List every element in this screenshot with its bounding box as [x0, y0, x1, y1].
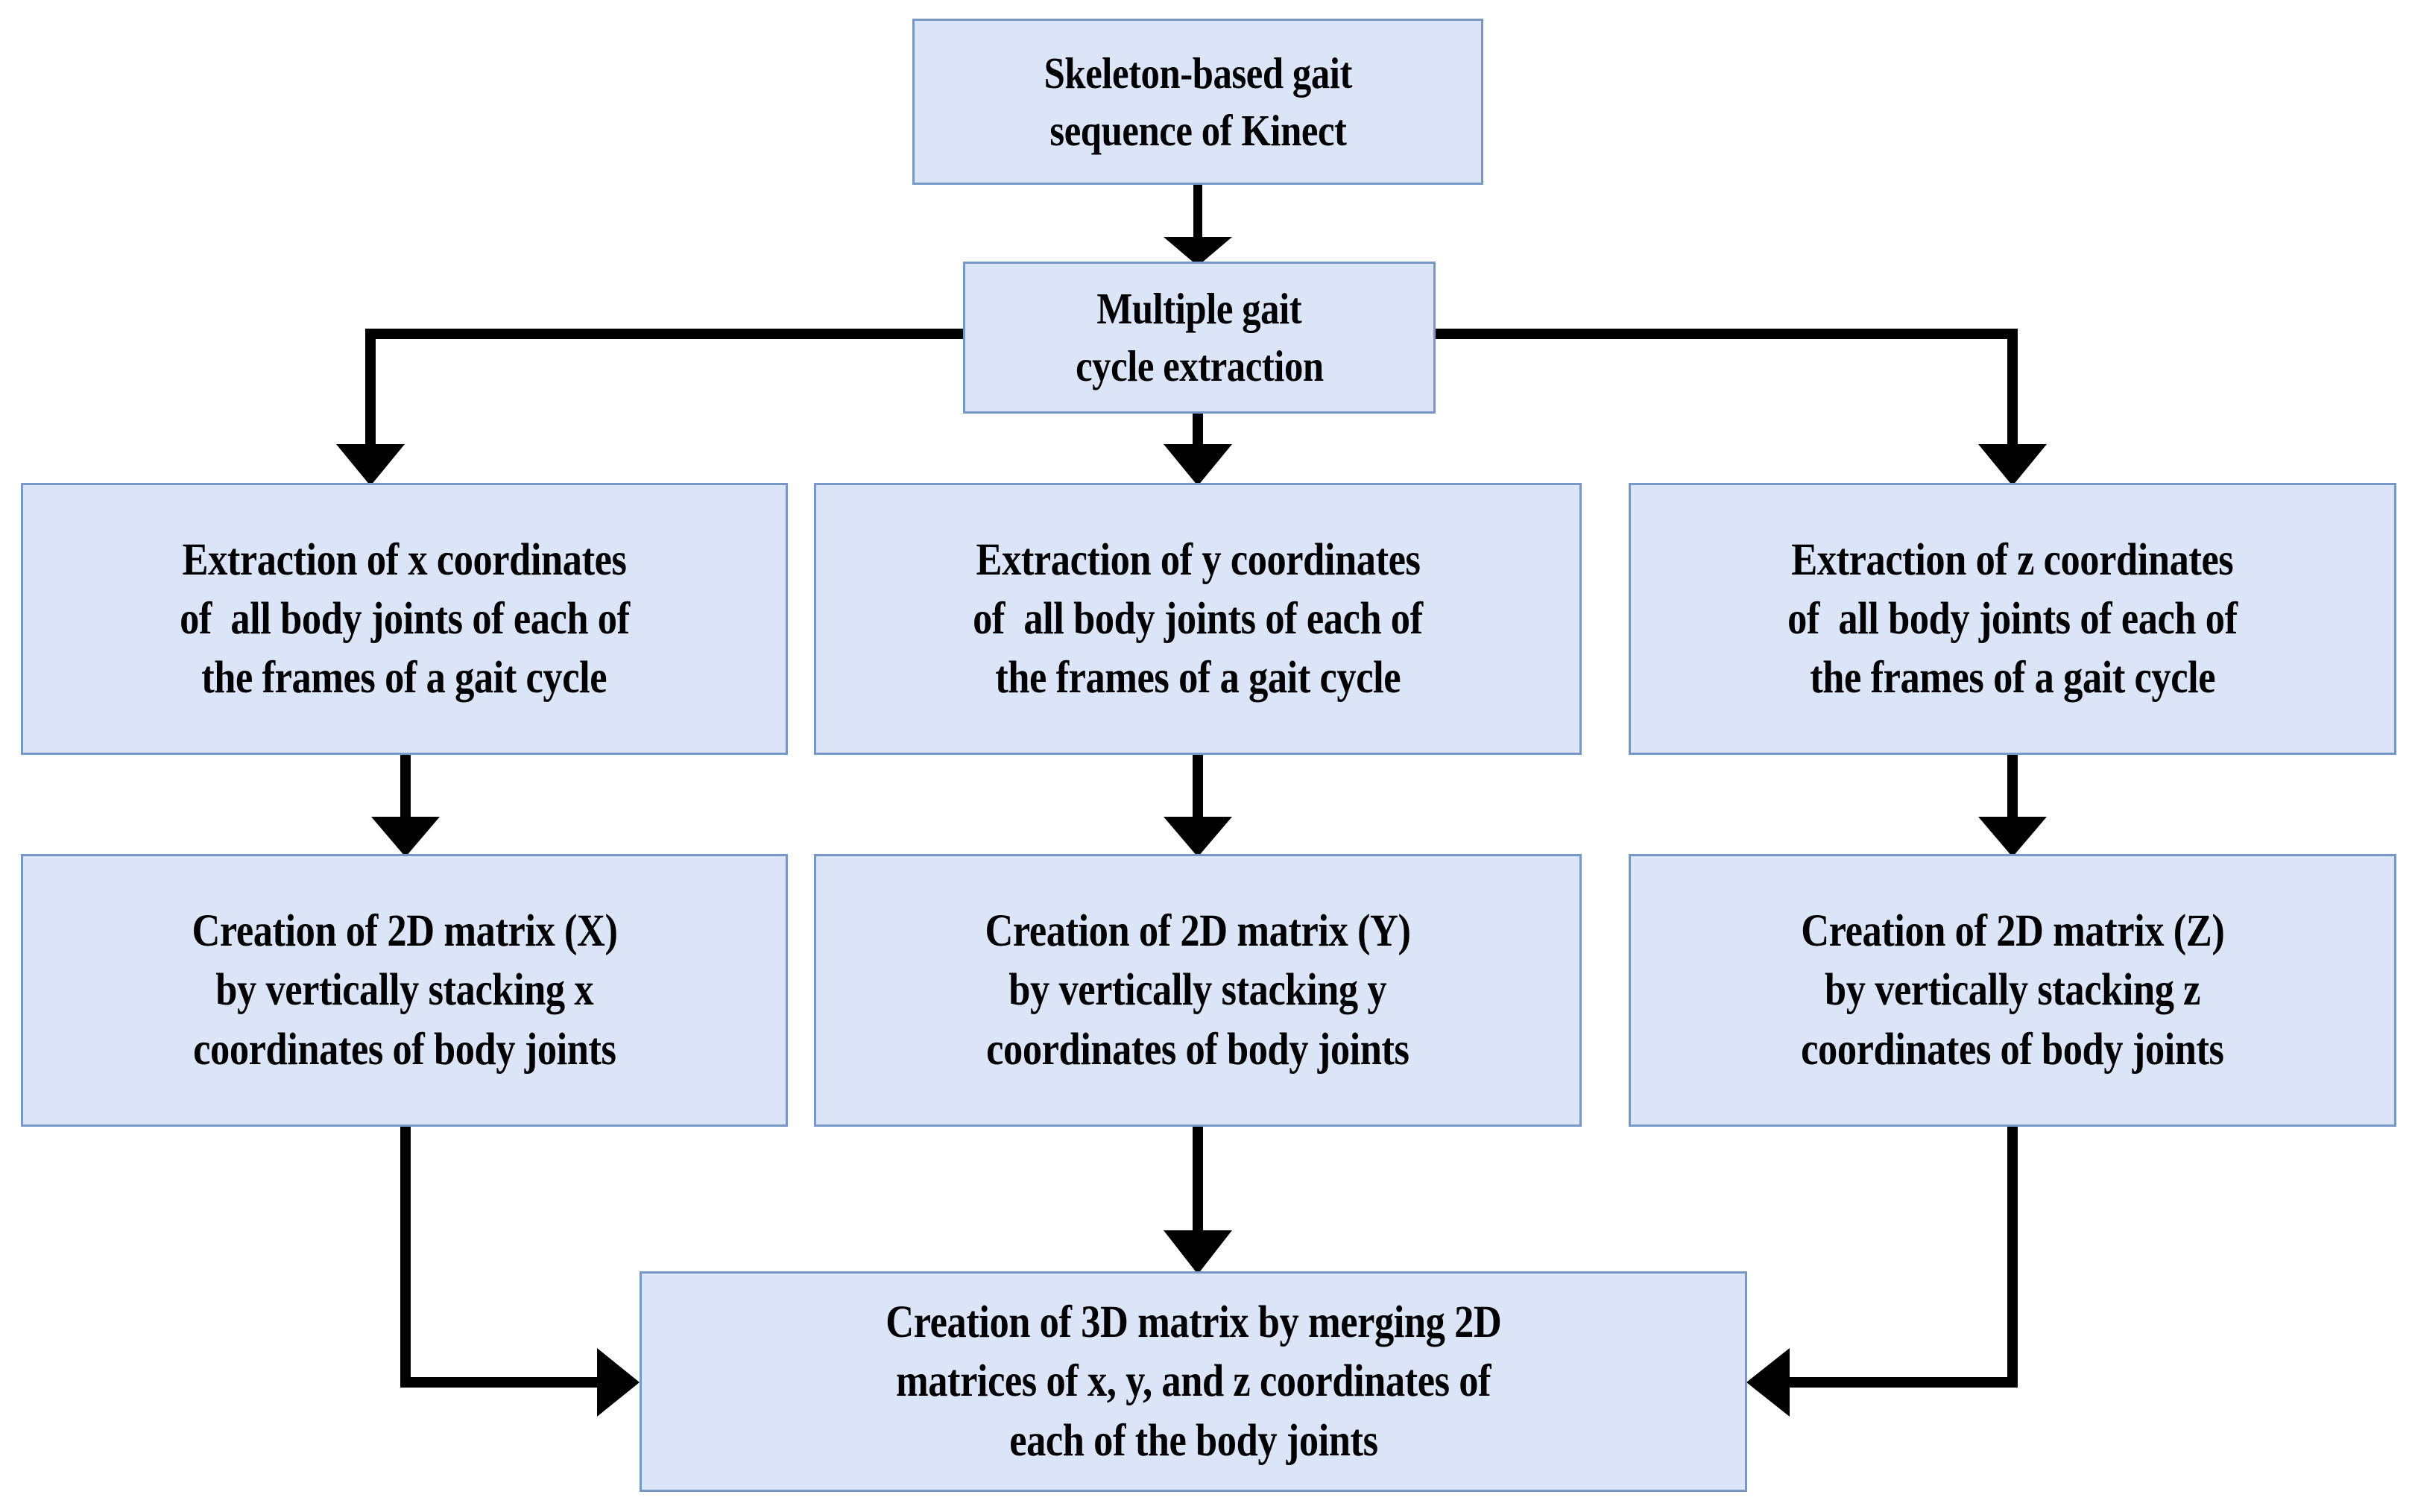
- edge-cycles-branch-right: [1436, 334, 2047, 486]
- edge-matrix-z-to-merge: [1746, 1127, 2012, 1417]
- node-2d-matrix-z[interactable]: Creation of 2D matrix (Z) by vertically …: [1629, 854, 2396, 1127]
- node-line: the frames of a gait cycle: [202, 648, 607, 707]
- edge-cycles-to-extract-y: [1164, 414, 1232, 486]
- node-multiple-gait-cycle-extraction[interactable]: Multiple gait cycle extraction: [963, 262, 1436, 414]
- node-line: of all body joints of each of: [180, 589, 630, 648]
- edge-matrix-y-to-merge: [1164, 1127, 1232, 1274]
- node-line: Skeleton-based gait: [1044, 45, 1351, 102]
- node-line: by vertically stacking x: [215, 961, 593, 1019]
- node-line: Extraction of y coordinates: [976, 531, 1420, 589]
- node-2d-matrix-x[interactable]: Creation of 2D matrix (X) by vertically …: [21, 854, 788, 1127]
- node-line: Multiple gait: [1097, 280, 1302, 338]
- node-line: Creation of 2D matrix (X): [192, 902, 617, 961]
- edge-extract-x-to-matrix-x: [371, 755, 440, 857]
- flowchart-canvas: Skeleton-based gait sequence of Kinect M…: [0, 0, 2415, 1512]
- node-line: Creation of 2D matrix (Z): [1801, 902, 2224, 961]
- node-line: each of the body joints: [1009, 1411, 1377, 1470]
- node-line: the frames of a gait cycle: [995, 648, 1401, 707]
- node-line: coordinates of body joints: [986, 1020, 1409, 1079]
- edge-extract-y-to-matrix-y: [1164, 755, 1232, 857]
- edge-extract-z-to-matrix-z: [1978, 755, 2047, 857]
- node-line: coordinates of body joints: [1801, 1020, 2223, 1079]
- node-line: by vertically stacking z: [1825, 961, 2200, 1019]
- node-line: by vertically stacking y: [1009, 961, 1387, 1019]
- node-3d-matrix-merge[interactable]: Creation of 3D matrix by merging 2D matr…: [640, 1271, 1747, 1492]
- node-line: coordinates of body joints: [193, 1020, 616, 1079]
- node-line: of all body joints of each of: [1787, 589, 2238, 648]
- node-line: of all body joints of each of: [973, 589, 1423, 648]
- node-extraction-y-coordinates[interactable]: Extraction of y coordinates of all body …: [814, 483, 1582, 755]
- node-extraction-z-coordinates[interactable]: Extraction of z coordinates of all body …: [1629, 483, 2396, 755]
- node-line: Extraction of z coordinates: [1791, 531, 2233, 589]
- node-line: Extraction of x coordinates: [183, 531, 627, 589]
- edge-matrix-x-to-merge: [405, 1127, 640, 1417]
- node-skeleton-gait-sequence[interactable]: Skeleton-based gait sequence of Kinect: [912, 19, 1483, 185]
- node-extraction-x-coordinates[interactable]: Extraction of x coordinates of all body …: [21, 483, 788, 755]
- edge-source-to-cycles: [1164, 185, 1232, 266]
- node-line: Creation of 3D matrix by merging 2D: [885, 1293, 1501, 1352]
- node-line: the frames of a gait cycle: [1810, 648, 2215, 707]
- node-line: cycle extraction: [1076, 338, 1324, 395]
- node-line: Creation of 2D matrix (Y): [985, 902, 1410, 961]
- node-2d-matrix-y[interactable]: Creation of 2D matrix (Y) by vertically …: [814, 854, 1582, 1127]
- node-line: sequence of Kinect: [1049, 102, 1346, 159]
- edge-cycles-branch-left: [336, 334, 963, 486]
- node-line: matrices of x, y, and z coordinates of: [896, 1352, 1491, 1411]
